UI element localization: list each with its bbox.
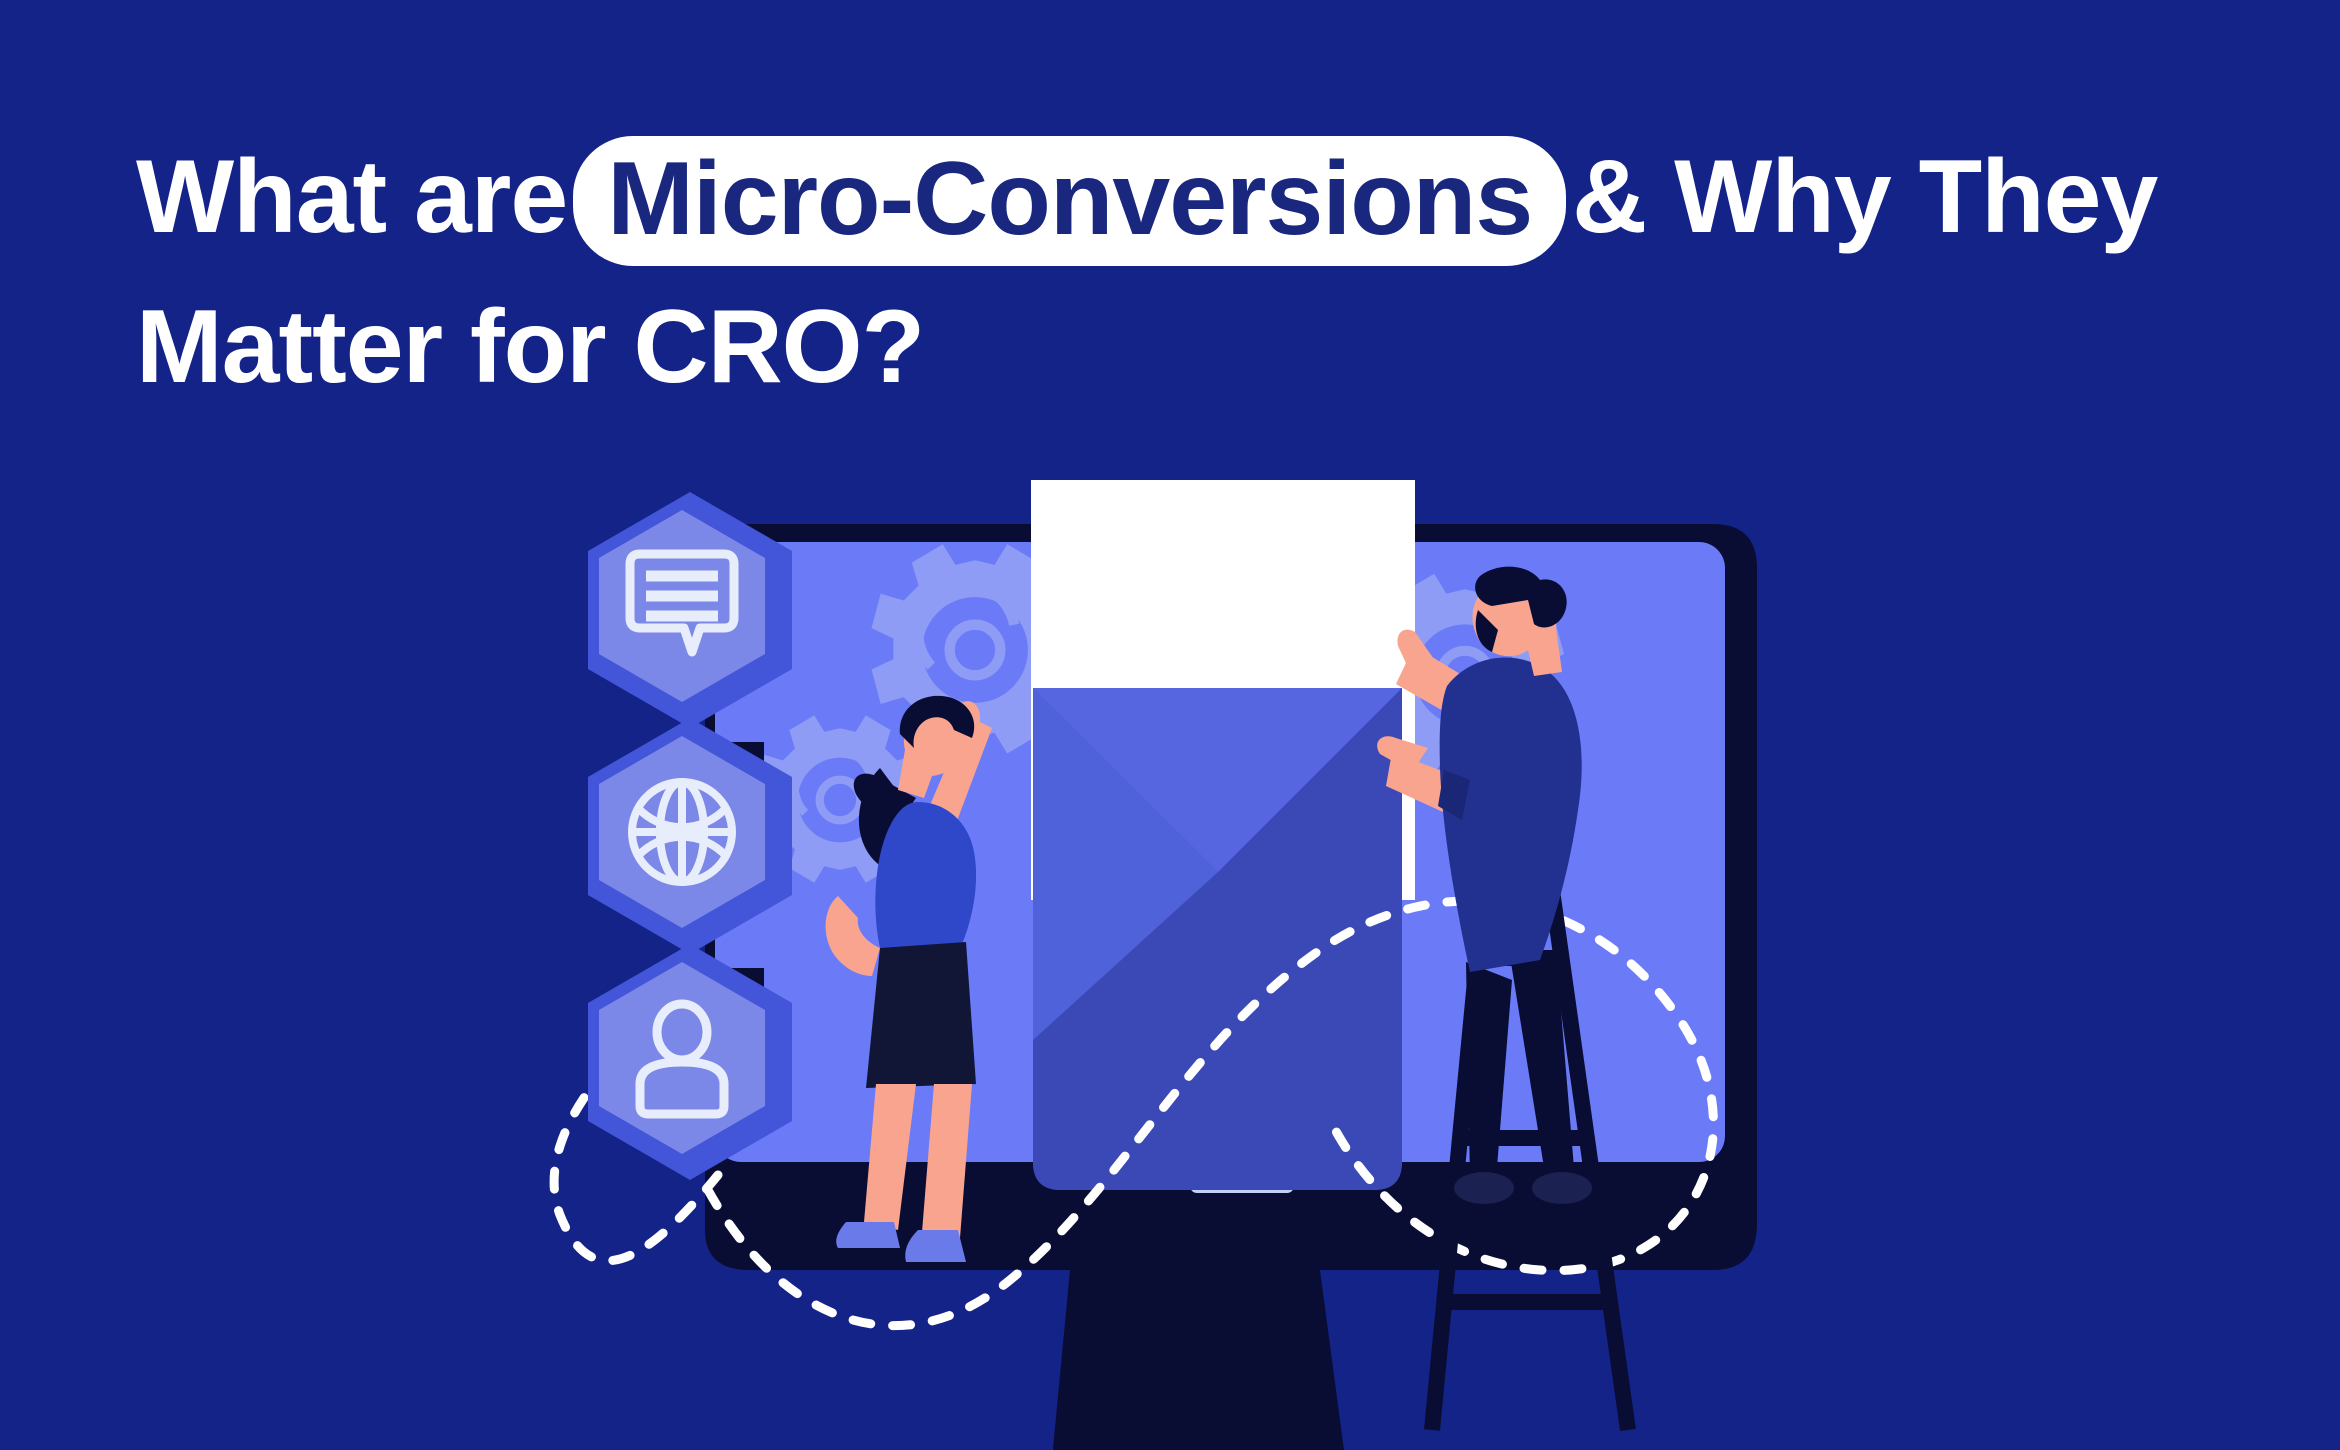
title-text-after: & Why They: [1572, 139, 2157, 255]
woman-skirt: [866, 942, 976, 1088]
poster-canvas: What areMicro-Conversions& Why They Matt…: [0, 0, 2340, 1450]
badge-group: [588, 492, 792, 1180]
globe-icon: [632, 782, 732, 882]
title-line-1: What areMicro-Conversions& Why They: [136, 122, 2196, 272]
envelope-icon: [1033, 688, 1402, 1190]
title-highlight-pill: Micro-Conversions: [573, 136, 1566, 266]
title-line-2: Matter for CRO?: [136, 272, 2196, 422]
man-shoe-back: [1454, 1172, 1514, 1204]
title-text-before: What are: [136, 139, 567, 255]
hero-illustration: [0, 480, 2340, 1450]
stand-neck: [1050, 1270, 1348, 1450]
woman-shoe-back: [836, 1222, 900, 1248]
woman-shoe-front: [905, 1230, 966, 1262]
page-title: What areMicro-Conversions& Why They Matt…: [136, 122, 2196, 422]
man-shoe-front: [1532, 1172, 1592, 1204]
monitor-stand: [1000, 1270, 1430, 1450]
